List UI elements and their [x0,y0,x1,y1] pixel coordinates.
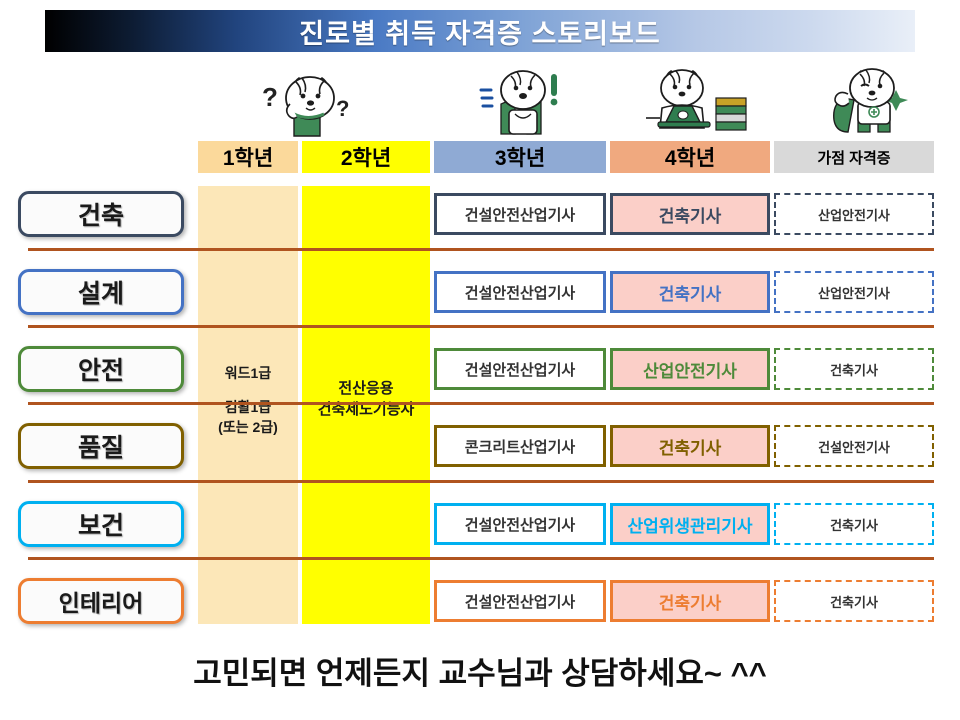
cell-bonus-row-4[interactable]: 건설안전기사 [774,425,934,467]
cell-year3-row-3[interactable]: 건설안전산업기사 [434,348,606,390]
column-header-bonus-certificate: 가점 자격증 [774,141,934,173]
year2-certificate-list: 전산응용 건축제도기능사 [302,378,430,421]
year2-line-1: 전산응용 [302,378,430,399]
category-pill-1[interactable]: 건축 [18,191,184,237]
category-label: 인테리어 [59,584,144,618]
thinking-tiger-with-question-marks-icon: ? ? [248,58,358,142]
cell-year4-row-5[interactable]: 산업위생관리기사 [610,503,770,545]
category-pill-2[interactable]: 설계 [18,269,184,315]
cell-year3-row-4[interactable]: 콘크리트산업기사 [434,425,606,467]
category-label: 설계 [78,274,124,310]
cheering-tiger-with-exclamation-mark-icon [465,54,575,138]
footer-caption: 고민되면 언제든지 교수님과 상담하세요~ ^^ [0,648,960,693]
cell-bonus-row-3[interactable]: 건축기사 [774,348,934,390]
cell-year4-row-2[interactable]: 건축기사 [610,271,770,313]
winking-tiger-with-thumbs-up-icon [818,54,928,138]
year1-line-1: 워드1급 [198,364,298,384]
year1-line-3: (또는 2급) [198,418,298,438]
cell-year4-row-3[interactable]: 산업안전기사 [610,348,770,390]
svg-text:?: ? [336,96,349,121]
column-header-year4: 4학년 [610,141,770,173]
category-label: 건축 [78,196,124,232]
category-label: 안전 [78,351,124,387]
year1-line-2: 컴활1급 [198,398,298,418]
cell-year3-row-6[interactable]: 건설안전산업기사 [434,580,606,622]
row-separator-3 [28,402,934,405]
cell-year4-row-1[interactable]: 건축기사 [610,193,770,235]
category-pill-4[interactable]: 품질 [18,423,184,469]
column-header-year2: 2학년 [302,141,430,173]
category-pill-6[interactable]: 인테리어 [18,578,184,624]
row-separator-5 [28,557,934,560]
cell-year4-row-6[interactable]: 건축기사 [610,580,770,622]
row-separator-1 [28,248,934,251]
cell-year3-row-5[interactable]: 건설안전산업기사 [434,503,606,545]
cell-year4-row-4[interactable]: 건축기사 [610,425,770,467]
title-banner: 진로별 취득 자격증 스토리보드 [45,10,915,52]
category-pill-3[interactable]: 안전 [18,346,184,392]
row-separator-2 [28,325,934,328]
svg-text:?: ? [262,82,278,112]
cell-bonus-row-5[interactable]: 건축기사 [774,503,934,545]
cell-bonus-row-1[interactable]: 산업안전기사 [774,193,934,235]
cell-year3-row-2[interactable]: 건설안전산업기사 [434,271,606,313]
year1-certificate-list: 워드1급 컴활1급 (또는 2급) [198,364,298,438]
studying-tiger-with-laptop-and-books-icon [640,60,750,144]
category-label: 보건 [78,506,124,542]
column-header-year1: 1학년 [198,141,298,173]
cell-bonus-row-2[interactable]: 산업안전기사 [774,271,934,313]
column-header-year3: 3학년 [434,141,606,173]
row-separator-4 [28,480,934,483]
category-pill-5[interactable]: 보건 [18,501,184,547]
cell-bonus-row-6[interactable]: 건축기사 [774,580,934,622]
cell-year3-row-1[interactable]: 건설안전산업기사 [434,193,606,235]
category-label: 품질 [78,428,124,464]
page-title: 진로별 취득 자격증 스토리보드 [299,12,660,51]
